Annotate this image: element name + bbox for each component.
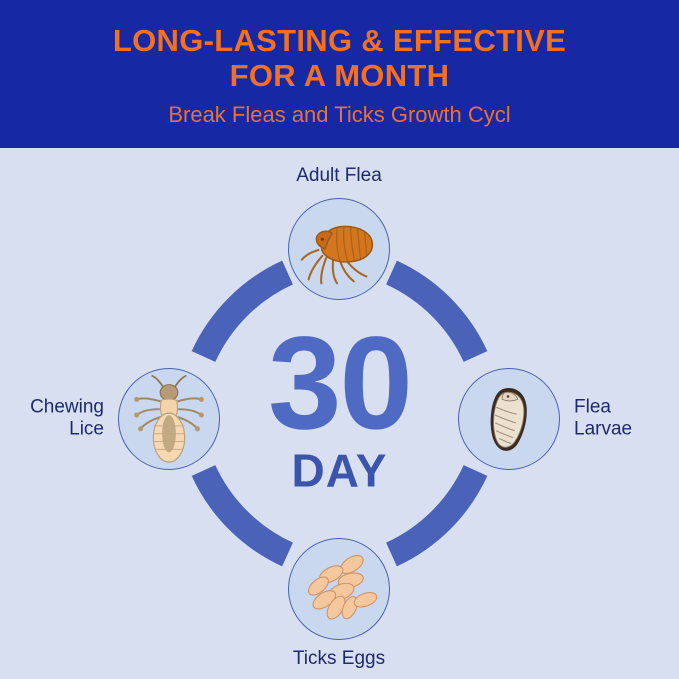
node-adult-flea-label: Adult Flea <box>296 165 382 187</box>
node-chewing-lice-label-line-1: Chewing <box>30 397 104 419</box>
node-ticks-eggs[interactable]: Ticks Eggs <box>288 538 390 640</box>
node-flea-larvae[interactable]: Flea Larvae <box>458 368 560 470</box>
node-ticks-eggs-label: Ticks Eggs <box>293 648 385 670</box>
node-flea-larvae-label: Flea Larvae <box>574 397 632 442</box>
node-ticks-eggs-circle <box>288 538 390 640</box>
node-chewing-lice[interactable]: Chewing Lice <box>118 368 220 470</box>
header-banner: LONG-LASTING & EFFECTIVE FOR A MONTH Bre… <box>0 0 679 148</box>
arc-segment-bottom-right <box>392 471 476 555</box>
node-chewing-lice-circle <box>118 368 220 470</box>
arc-segment-top-left <box>204 273 288 357</box>
adult-flea-icon <box>289 199 389 299</box>
node-chewing-lice-label-line-2: Lice <box>30 419 104 441</box>
arc-segment-top-right <box>392 273 476 357</box>
node-adult-flea[interactable]: Adult Flea <box>288 198 390 300</box>
banner-title-line-1: LONG-LASTING & EFFECTIVE <box>113 23 566 58</box>
banner-subtitle: Break Fleas and Ticks Growth Cycl <box>168 102 510 128</box>
lifecycle-diagram: 30 DAY <box>0 148 679 679</box>
banner-title-line-2: FOR A MONTH <box>113 58 566 93</box>
node-flea-larvae-label-line-2: Larvae <box>574 419 632 441</box>
arc-segment-bottom-left <box>204 471 288 555</box>
flea-tick-lifecycle-infographic: LONG-LASTING & EFFECTIVE FOR A MONTH Bre… <box>0 0 679 679</box>
flea-larva-icon <box>459 369 559 469</box>
tick-eggs-icon <box>289 539 389 639</box>
node-flea-larvae-circle <box>458 368 560 470</box>
banner-title: LONG-LASTING & EFFECTIVE FOR A MONTH <box>113 23 566 93</box>
node-flea-larvae-label-line-1: Flea <box>574 397 632 419</box>
chewing-louse-icon <box>119 369 219 469</box>
node-chewing-lice-label: Chewing Lice <box>30 397 104 442</box>
node-adult-flea-circle <box>288 198 390 300</box>
